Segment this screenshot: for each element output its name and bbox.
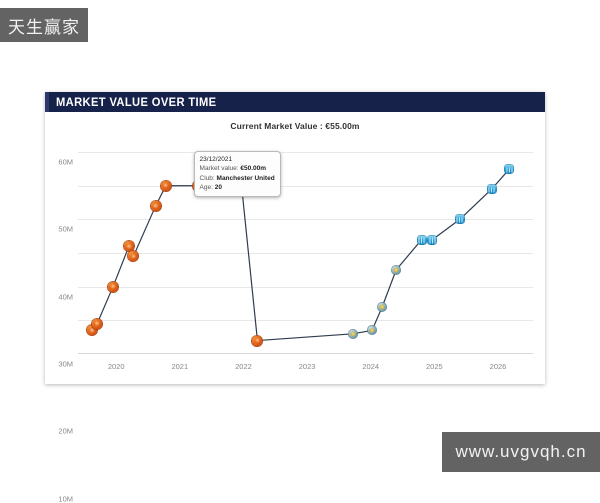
tooltip-club-label: Club: [200, 175, 215, 182]
watermark-top-left: 天生赢家 [0, 8, 88, 42]
chart-data-point-blue[interactable] [505, 164, 514, 173]
y-tick-label: 40M [58, 292, 73, 301]
chart-data-point-teal[interactable] [392, 265, 401, 274]
watermark-top-left-text: 天生赢家 [8, 13, 80, 38]
x-tick-label: 2021 [171, 362, 188, 371]
card-body: Current Market Value : €55.00m 10M20M30M… [45, 112, 545, 384]
tooltip-age: Age: 20 [200, 183, 275, 192]
chart-data-point-blue[interactable] [417, 235, 426, 244]
chart-data-point-blue[interactable] [487, 185, 496, 194]
tooltip-age-label: Age: [200, 184, 213, 191]
tooltip-age-value: 20 [215, 184, 222, 191]
card-header: MARKET VALUE OVER TIME [45, 92, 545, 112]
x-tick-label: 2025 [426, 362, 443, 371]
chart-plot-area: 10M20M30M40M50M60M [78, 142, 533, 354]
tooltip-market-value-label: Market value: [200, 165, 239, 172]
chart-tooltip: 23/12/2021 Market value: €50.00m Club: M… [194, 151, 281, 198]
chart-data-point-blue[interactable] [428, 235, 437, 244]
x-tick-label: 2020 [108, 362, 125, 371]
card-header-title: MARKET VALUE OVER TIME [56, 95, 217, 109]
x-tick-label: 2023 [299, 362, 316, 371]
watermark-bottom-right: www.uvgvqh.cn [442, 432, 600, 472]
chart-data-point-utd[interactable] [150, 200, 161, 211]
chart-title: Current Market Value : €55.00m [45, 112, 545, 131]
chart-data-point-teal[interactable] [378, 302, 387, 311]
chart-data-point-utd[interactable] [92, 318, 103, 329]
chart-data-point-utd[interactable] [160, 180, 171, 191]
tooltip-club-value: Manchester United [217, 175, 275, 182]
chart-data-point-utd[interactable] [128, 251, 139, 262]
tooltip-market-value: Market value: €50.00m [200, 164, 275, 173]
y-tick-label: 50M [58, 225, 73, 234]
market-value-card: MARKET VALUE OVER TIME Current Market Va… [45, 92, 545, 384]
chart-line-series [78, 142, 533, 354]
chart-data-point-utd[interactable] [108, 281, 119, 292]
tooltip-date: 23/12/2021 [200, 155, 275, 164]
x-tick-label: 2022 [235, 362, 252, 371]
chart-data-point-blue[interactable] [455, 215, 464, 224]
y-tick-label: 10M [58, 494, 73, 503]
chart-x-axis [78, 353, 533, 354]
y-tick-label: 20M [58, 427, 73, 436]
y-tick-label: 30M [58, 360, 73, 369]
tooltip-market-value-value: €50.00m [240, 165, 266, 172]
watermark-bottom-right-text: www.uvgvqh.cn [455, 442, 586, 462]
chart-data-point-utd[interactable] [252, 335, 263, 346]
y-tick-label: 60M [58, 158, 73, 167]
x-tick-label: 2024 [362, 362, 379, 371]
chart-x-tick-labels: 2020202120222023202420252026 [78, 358, 533, 372]
chart-data-point-teal[interactable] [368, 326, 377, 335]
tooltip-club: Club: Manchester United [200, 174, 275, 183]
x-tick-label: 2026 [490, 362, 507, 371]
chart-data-point-teal[interactable] [348, 329, 357, 338]
